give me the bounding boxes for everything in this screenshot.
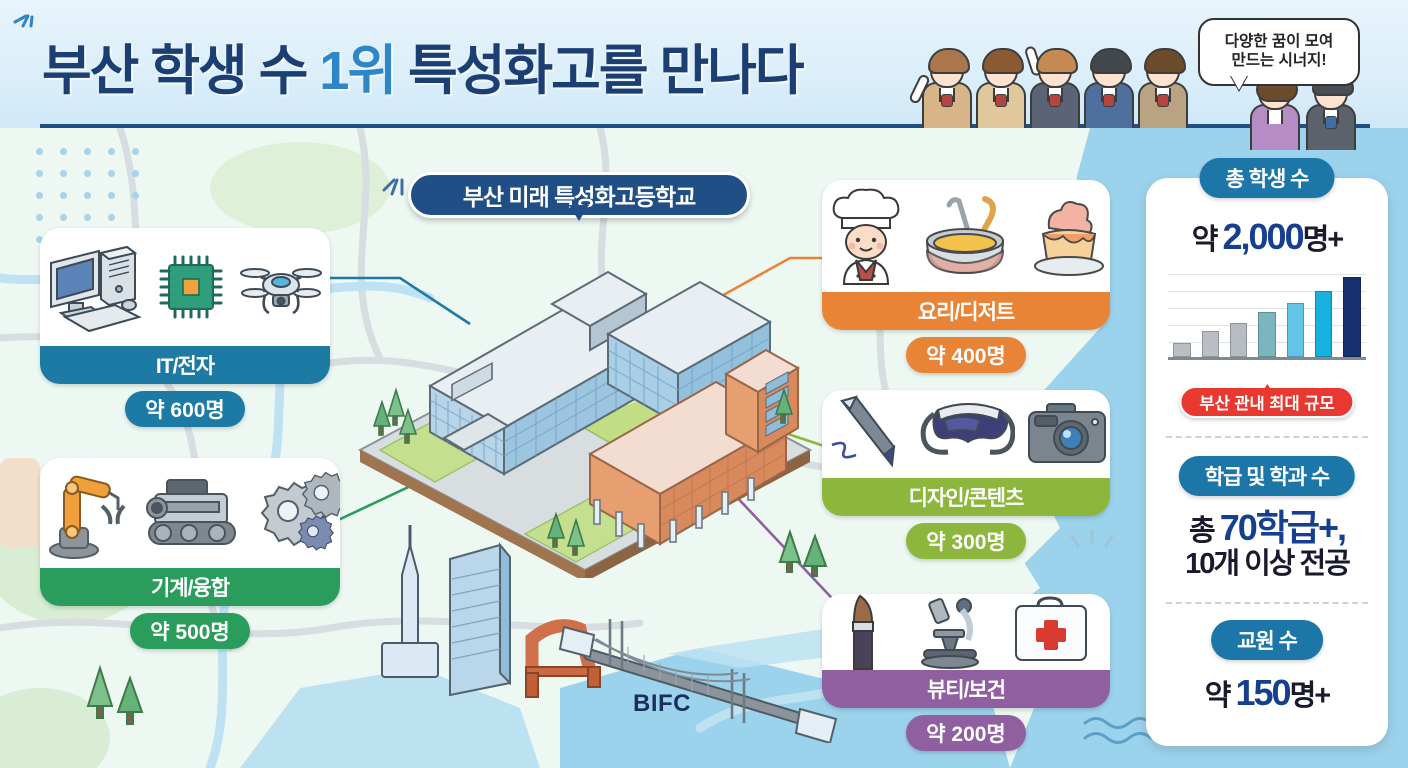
value-main: 2,000 — [1223, 216, 1303, 257]
card-shell: 디자인/콘텐츠 — [822, 390, 1110, 516]
page-header: 부산 학생 수 1위 특성화고를 만나다 — [0, 0, 1408, 128]
page-title: 부산 학생 수 1위 특성화고를 만나다 — [42, 26, 803, 105]
title-pre: 부산 학생 수 — [42, 41, 319, 101]
card-illustration — [822, 390, 1110, 478]
department-count-pill: 약 300명 — [906, 523, 1026, 559]
school-building-illustration — [340, 238, 830, 578]
section-divider — [1166, 436, 1368, 438]
value-prefix: 약 — [1205, 680, 1236, 712]
desktop-computer-icon — [43, 241, 147, 333]
student-figure — [1092, 52, 1134, 128]
department-count: 약 600명 — [145, 394, 225, 424]
cupcake-icon — [1019, 190, 1110, 282]
department-name: 디자인/콘텐츠 — [909, 482, 1024, 512]
student-tie — [941, 94, 953, 107]
card-title-bar: 뷰티/보건 — [822, 670, 1110, 708]
gears-icon — [250, 467, 340, 559]
chart-bar — [1230, 323, 1248, 357]
student-tie — [1103, 94, 1115, 107]
student-hair — [1090, 48, 1132, 74]
stat-heading-label: 학급 및 학과 수 — [1205, 461, 1329, 491]
chart-bar — [1258, 312, 1276, 357]
card-count-wrap: 약 200명 — [822, 708, 1110, 751]
student-head — [1146, 52, 1180, 88]
teacher-necktie — [1325, 116, 1337, 129]
department-count: 약 200명 — [926, 718, 1006, 748]
card-title-bar: 요리/디저트 — [822, 292, 1110, 330]
card-illustration — [822, 594, 1110, 670]
speech-line-2: 만드는 시너지! — [1231, 52, 1326, 71]
card-shell: 뷰티/보건 — [822, 594, 1110, 708]
title-post: 특성화고를 만나다 — [395, 41, 802, 101]
mixing-bowl-icon — [913, 189, 1013, 283]
student-head — [1038, 52, 1072, 88]
section-divider — [1166, 602, 1368, 604]
teacher-collar — [1267, 110, 1283, 124]
makeup-brush-icon — [838, 594, 904, 670]
card-title-bar: IT/전자 — [40, 346, 330, 384]
student-tie — [1049, 94, 1061, 107]
chart-axis — [1168, 357, 1366, 360]
department-count: 약 400명 — [926, 340, 1006, 370]
school-name-badge[interactable]: 부산 미래 특성화고등학교 — [408, 172, 750, 218]
department-card-design[interactable]: 디자인/콘텐츠 약 300명 — [822, 390, 1110, 559]
student-head — [930, 52, 964, 88]
chart-bar — [1287, 303, 1305, 357]
stat-heading-total-students: 총 학생 수 — [1200, 158, 1335, 198]
drone-icon — [235, 251, 327, 323]
value-suffix: 명+ — [1290, 680, 1330, 712]
camera-icon — [1021, 394, 1110, 474]
student-hair — [982, 48, 1024, 74]
bifc-landmark-label: BIFC — [633, 690, 691, 718]
teacher-pair-illustration — [1258, 96, 1378, 144]
student-figure — [930, 52, 972, 128]
gridline — [1168, 291, 1366, 292]
department-card-machinery[interactable]: 기계/융합 약 500명 — [40, 458, 340, 649]
student-figure — [1146, 52, 1188, 128]
robot-arm-icon — [40, 466, 131, 560]
student-hair — [928, 48, 970, 74]
stylus-pen-icon — [822, 393, 908, 475]
classes-line-2: 10개 이상 전공 — [1146, 548, 1388, 580]
stat-value-total-students: 약 2,000명+ — [1146, 216, 1388, 258]
gridline — [1168, 274, 1366, 275]
card-illustration — [822, 180, 1110, 292]
title-highlight: 1위 — [319, 41, 395, 101]
student-figure — [1038, 52, 1080, 128]
department-name: 요리/디저트 — [918, 296, 1014, 326]
card-count-wrap: 약 300명 — [822, 516, 1110, 559]
card-illustration — [40, 458, 340, 568]
student-head — [1092, 52, 1126, 88]
student-hair — [1036, 48, 1078, 74]
student-figure — [984, 52, 1026, 128]
microchip-icon — [153, 249, 229, 325]
teacher-body — [1250, 104, 1300, 150]
department-name: 뷰티/보건 — [927, 674, 1005, 704]
chart-bar — [1202, 331, 1220, 357]
department-count-pill: 약 600명 — [125, 391, 245, 427]
card-count-wrap: 약 400명 — [822, 330, 1110, 373]
student-tie — [995, 94, 1007, 107]
classes-prefix: 총 — [1189, 515, 1220, 547]
stat-heading-teachers: 교원 수 — [1211, 620, 1323, 660]
speech-bubble: 다양한 꿈이 모여 만드는 시너지! — [1198, 18, 1360, 86]
badge-label: 부산 관내 최대 규모 — [1199, 390, 1334, 414]
microscope-icon — [910, 594, 1002, 670]
chart-bar — [1315, 291, 1333, 357]
student-body — [1030, 82, 1080, 128]
department-count: 약 500명 — [150, 616, 230, 646]
student-tie — [1157, 94, 1169, 107]
stat-value-classes: 총 70학급+, 10개 이상 전공 — [1146, 508, 1388, 581]
statistics-panel: 총 학생 수 약 2,000명+ 부산 관내 최대 규모 학급 및 학과 수 총… — [1146, 178, 1388, 746]
largest-scale-badge: 부산 관내 최대 규모 — [1179, 386, 1354, 418]
chart-bar — [1343, 277, 1361, 357]
card-count-wrap: 약 500명 — [40, 606, 340, 649]
department-card-beauty[interactable]: 뷰티/보건 약 200명 — [822, 594, 1110, 751]
student-body — [1084, 82, 1134, 128]
department-count: 약 300명 — [926, 526, 1006, 556]
school-name-label: 부산 미래 특성화고등학교 — [463, 178, 696, 212]
card-shell: 기계/융합 — [40, 458, 340, 606]
department-name: 기계/융합 — [151, 572, 229, 602]
speech-line-1: 다양한 꿈이 모여 — [1225, 33, 1333, 52]
classes-main: 70학급+, — [1220, 507, 1345, 548]
student-growth-chart — [1168, 274, 1366, 360]
vr-headset-icon — [914, 394, 1015, 474]
teacher-body — [1306, 104, 1356, 150]
chef-icon — [822, 184, 907, 288]
first-aid-kit-icon — [1008, 594, 1094, 670]
card-title-bar: 디자인/콘텐츠 — [822, 478, 1110, 516]
card-illustration — [40, 228, 330, 346]
student-body — [922, 82, 972, 128]
stat-heading-classes: 학급 및 학과 수 — [1179, 456, 1355, 496]
value-main: 150 — [1236, 672, 1290, 713]
card-count-wrap: 약 600명 — [40, 384, 330, 427]
sparkle-icon — [12, 4, 38, 30]
department-count-pill: 약 200명 — [906, 715, 1026, 751]
card-shell: 요리/디저트 — [822, 180, 1110, 330]
student-group-illustration — [930, 28, 1210, 128]
department-card-culinary[interactable]: 요리/디저트 약 400명 — [822, 180, 1110, 373]
student-body — [976, 82, 1026, 128]
student-body — [1138, 82, 1188, 128]
department-count-pill: 약 400명 — [906, 337, 1026, 373]
value-prefix: 약 — [1192, 224, 1223, 256]
gridline — [1168, 308, 1366, 309]
classes-line-1: 총 70학급+, — [1146, 508, 1388, 548]
stat-heading-label: 총 학생 수 — [1226, 163, 1309, 193]
tracked-robot-icon — [137, 470, 244, 556]
department-card-it[interactable]: IT/전자 약 600명 — [40, 228, 330, 427]
card-shell: IT/전자 — [40, 228, 330, 384]
chart-bar — [1173, 343, 1191, 357]
department-count-pill: 약 500명 — [130, 613, 250, 649]
tree-cluster-icon — [70, 648, 160, 738]
student-head — [984, 52, 1018, 88]
stat-value-teachers: 약 150명+ — [1146, 672, 1388, 714]
card-title-bar: 기계/융합 — [40, 568, 340, 606]
value-suffix: 명+ — [1303, 224, 1343, 256]
student-hair — [1144, 48, 1186, 74]
stat-heading-label: 교원 수 — [1237, 625, 1297, 655]
department-name: IT/전자 — [156, 350, 214, 380]
